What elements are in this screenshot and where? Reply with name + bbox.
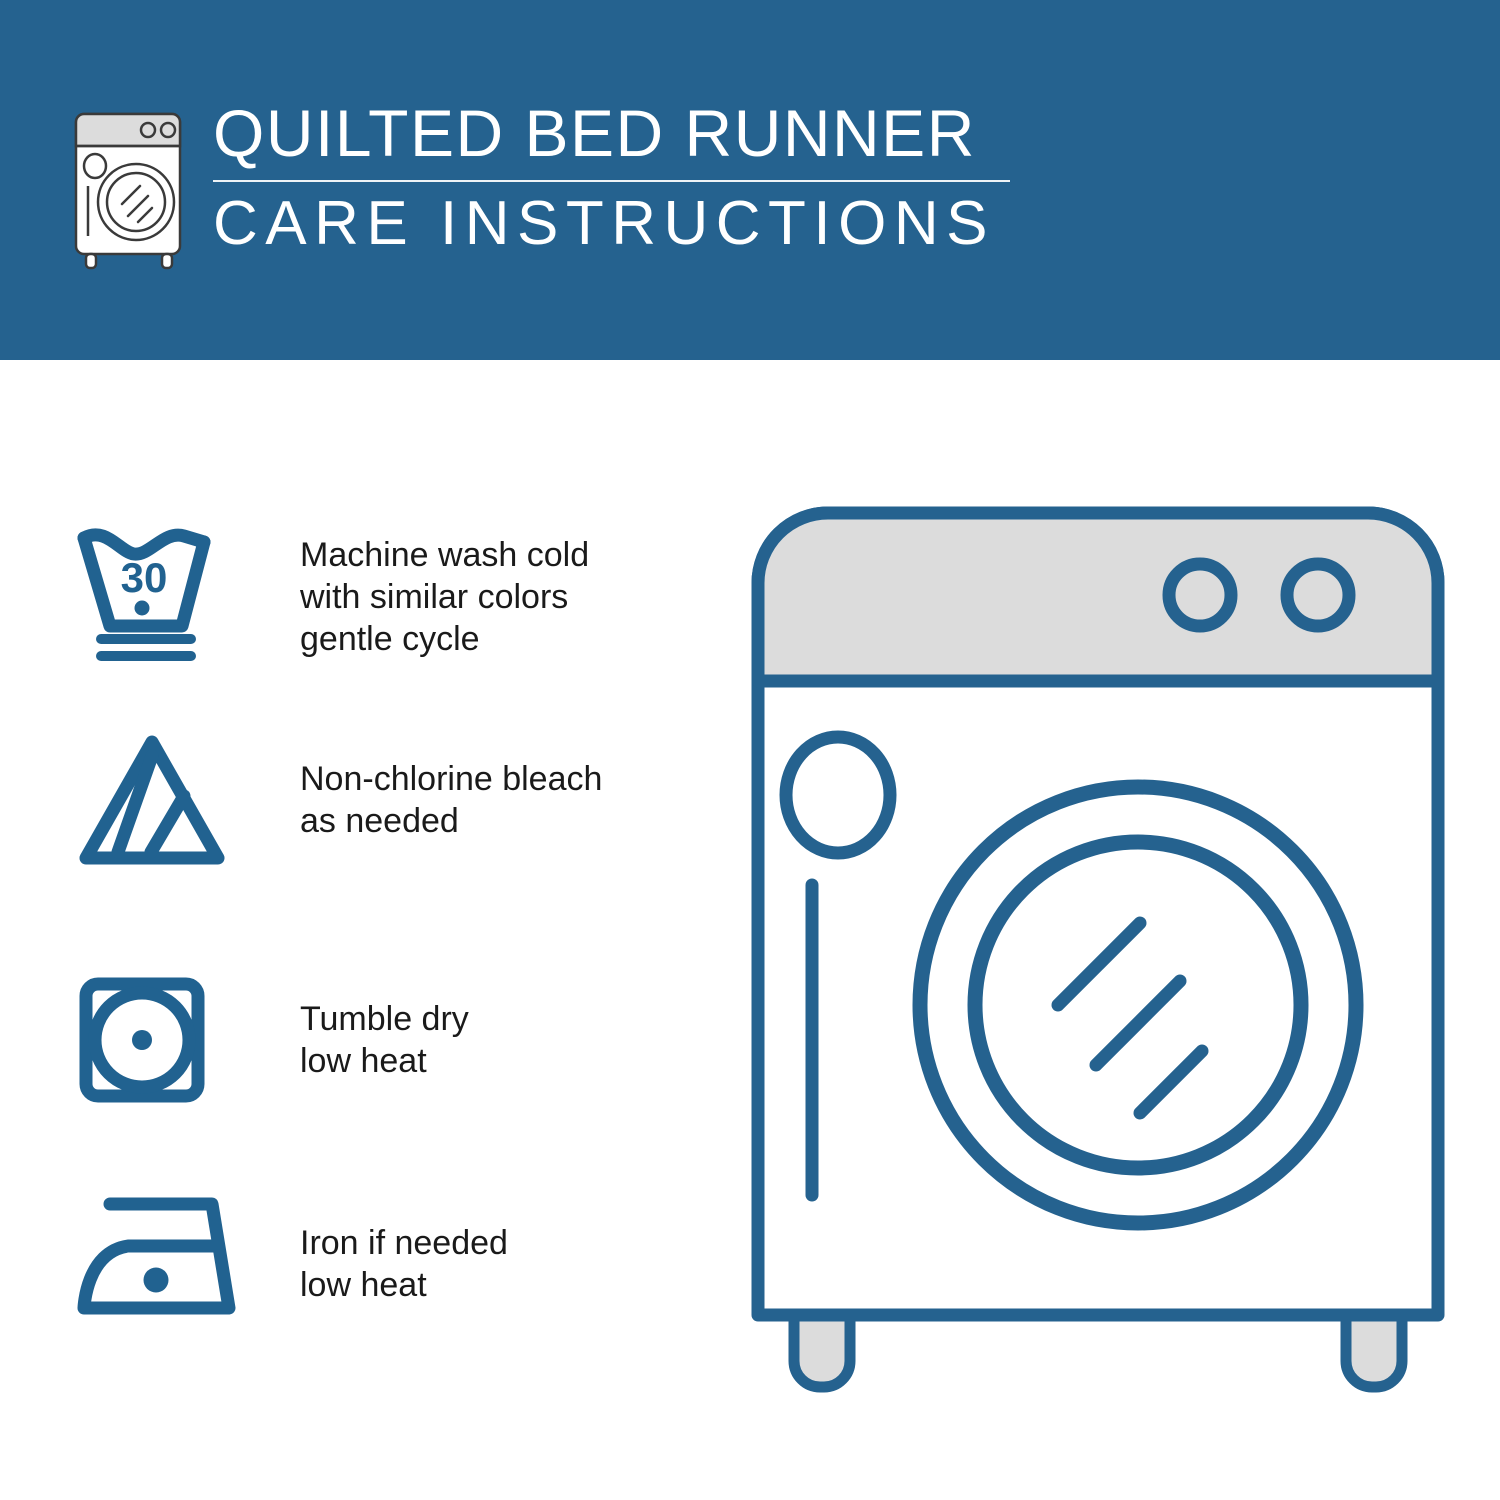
wash-tub-30-icon: 30	[72, 520, 222, 670]
bleach-triangle-icon	[72, 730, 232, 875]
page-subtitle: CARE INSTRUCTIONS	[213, 188, 1213, 260]
care-text-iron: Iron if needed low heat	[300, 1222, 508, 1306]
care-line: as needed	[300, 800, 602, 842]
care-line: Tumble dry	[300, 998, 469, 1040]
front-load-washing-machine-illustration	[740, 495, 1460, 1415]
tumble-dry-low-icon	[72, 970, 212, 1115]
title-divider	[213, 180, 1010, 182]
care-text-tumble-dry: Tumble dry low heat	[300, 998, 469, 1082]
care-line: Machine wash cold	[300, 534, 589, 576]
care-line: low heat	[300, 1264, 508, 1306]
care-line: low heat	[300, 1040, 469, 1082]
header-text-block: QUILTED BED RUNNER CARE INSTRUCTIONS	[213, 96, 1213, 260]
care-text-machine-wash: Machine wash cold with similar colors ge…	[300, 534, 589, 660]
care-instruction-list: 30 Machine wash cold with similar colors…	[0, 360, 700, 1500]
wash-temperature-label: 30	[121, 554, 168, 601]
care-text-bleach: Non-chlorine bleach as needed	[300, 758, 602, 842]
care-line: with similar colors	[300, 576, 589, 618]
care-line: Iron if needed	[300, 1222, 508, 1264]
care-line: gentle cycle	[300, 618, 589, 660]
washing-machine-icon	[62, 104, 198, 272]
page-header: QUILTED BED RUNNER CARE INSTRUCTIONS	[0, 0, 1500, 360]
page-title: QUILTED BED RUNNER	[213, 96, 1213, 170]
iron-low-heat-icon	[72, 1190, 247, 1325]
care-line: Non-chlorine bleach	[300, 758, 602, 800]
